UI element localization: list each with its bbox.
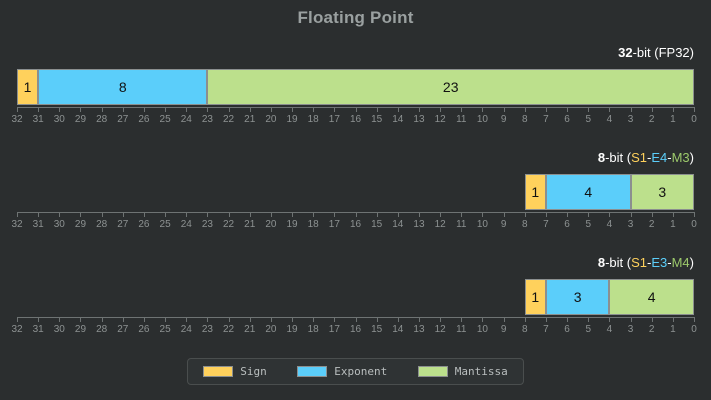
axis-tick-label: 2 [649, 324, 655, 335]
axis-tick-label: 1 [670, 219, 676, 230]
axis-tick-label: 6 [564, 114, 570, 125]
axis-tick-label: 15 [371, 324, 382, 335]
axis-tick-label: 24 [181, 219, 192, 230]
axis-tick [504, 212, 505, 217]
axis-tick-label: 24 [181, 324, 192, 335]
axis-tick [313, 107, 314, 112]
axis-tick-label: 12 [435, 114, 446, 125]
axis-tick [123, 317, 124, 322]
row-label: 8-bit (S1-E3-M4) [598, 255, 694, 270]
axis-tick [38, 317, 39, 322]
axis-tick-label: 30 [54, 114, 65, 125]
axis-tick-label: 31 [33, 114, 44, 125]
row-label-part-sign: S1 [631, 150, 647, 165]
axis-tick-label: 3 [628, 114, 634, 125]
axis-tick-label: 1 [670, 324, 676, 335]
axis-tick [482, 212, 483, 217]
axis-tick [59, 317, 60, 322]
axis-tick-label: 19 [286, 114, 297, 125]
axis-tick-label: 22 [223, 219, 234, 230]
axis-tick [525, 317, 526, 322]
segment-value: 4 [648, 289, 656, 305]
row-label-part-exponent: E4 [651, 150, 667, 165]
bitfield-segment-sign: 1 [525, 174, 546, 210]
axis-tick-label: 16 [350, 114, 361, 125]
axis-tick [165, 212, 166, 217]
axis-tick-label: 10 [477, 324, 488, 335]
bitfield-bar: 134 [17, 279, 694, 315]
axis-tick [377, 107, 378, 112]
axis-tick-label: 5 [585, 219, 591, 230]
axis-tick-label: 17 [329, 114, 340, 125]
axis-tick-label: 21 [244, 114, 255, 125]
row-label-part-exponent: E3 [651, 255, 667, 270]
axis-tick [504, 317, 505, 322]
axis-tick [356, 317, 357, 322]
axis-tick [334, 317, 335, 322]
axis-tick [694, 212, 695, 217]
axis-tick [229, 317, 230, 322]
axis-tick-label: 26 [138, 324, 149, 335]
axis-tick-label: 20 [265, 219, 276, 230]
row-label-close: ) [690, 150, 694, 165]
axis-tick-label: 8 [522, 219, 528, 230]
axis-tick-label: 7 [543, 324, 549, 335]
bit-axis: 3231302928272625242322212019181716151413… [17, 212, 694, 238]
axis-tick [334, 212, 335, 217]
axis-tick-label: 4 [607, 219, 613, 230]
axis-tick-label: 0 [691, 219, 697, 230]
axis-tick-label: 26 [138, 219, 149, 230]
axis-tick [17, 212, 18, 217]
axis-tick [165, 107, 166, 112]
axis-tick [102, 317, 103, 322]
axis-tick [102, 107, 103, 112]
axis-tick [186, 212, 187, 217]
row-label-close: ) [690, 255, 694, 270]
axis-tick-label: 10 [477, 114, 488, 125]
axis-tick [398, 107, 399, 112]
axis-tick [440, 107, 441, 112]
legend-swatch-mantissa [418, 366, 448, 377]
axis-tick-label: 14 [392, 114, 403, 125]
row-label-suffix: -bit ( [605, 150, 631, 165]
row-label-bits: 32 [618, 45, 632, 60]
axis-tick-label: 20 [265, 324, 276, 335]
axis-tick [207, 212, 208, 217]
axis-tick [546, 212, 547, 217]
axis-tick-label: 8 [522, 114, 528, 125]
axis-tick [398, 317, 399, 322]
axis-tick-label: 8 [522, 324, 528, 335]
axis-tick-label: 4 [607, 324, 613, 335]
legend-swatch-sign [203, 366, 233, 377]
legend-label: Sign [240, 365, 267, 378]
bitfield-segment-sign: 1 [17, 69, 38, 105]
segment-value: 3 [574, 289, 582, 305]
axis-tick-label: 15 [371, 219, 382, 230]
axis-tick-label: 22 [223, 324, 234, 335]
axis-tick-label: 17 [329, 324, 340, 335]
legend-item-mantissa: Mantissa [418, 365, 508, 378]
axis-tick [461, 317, 462, 322]
axis-tick-label: 16 [350, 324, 361, 335]
bit-axis: 3231302928272625242322212019181716151413… [17, 107, 694, 133]
legend: SignExponentMantissa [187, 358, 524, 385]
axis-tick [186, 317, 187, 322]
axis-tick [504, 107, 505, 112]
axis-tick [673, 317, 674, 322]
axis-tick [144, 317, 145, 322]
axis-tick-label: 12 [435, 324, 446, 335]
row-label-part-sign: S1 [631, 255, 647, 270]
axis-tick-label: 14 [392, 324, 403, 335]
axis-tick-label: 0 [691, 324, 697, 335]
axis-tick [250, 107, 251, 112]
axis-tick [440, 317, 441, 322]
axis-tick [165, 317, 166, 322]
axis-tick-label: 11 [456, 219, 466, 230]
bitfield-segment-mantissa: 3 [631, 174, 694, 210]
axis-tick [694, 317, 695, 322]
axis-tick-label: 29 [75, 219, 86, 230]
axis-tick [567, 212, 568, 217]
axis-tick-label: 29 [75, 324, 86, 335]
axis-tick-label: 29 [75, 114, 86, 125]
axis-tick [673, 107, 674, 112]
axis-tick [313, 212, 314, 217]
axis-tick [144, 107, 145, 112]
axis-tick [80, 212, 81, 217]
axis-tick [482, 107, 483, 112]
axis-tick [377, 317, 378, 322]
axis-tick [292, 107, 293, 112]
bitfield-segment-sign: 1 [525, 279, 546, 315]
axis-tick-label: 25 [160, 114, 171, 125]
row-label-bits: 8 [598, 150, 605, 165]
axis-tick-label: 23 [202, 114, 213, 125]
axis-tick [440, 212, 441, 217]
segment-value: 1 [531, 184, 539, 200]
axis-tick [419, 212, 420, 217]
axis-tick [38, 212, 39, 217]
axis-tick [419, 317, 420, 322]
axis-tick-label: 3 [628, 324, 634, 335]
axis-tick-label: 13 [413, 219, 424, 230]
bitfield-bar: 143 [17, 174, 694, 210]
axis-tick-label: 19 [286, 324, 297, 335]
axis-tick [80, 317, 81, 322]
axis-tick [292, 212, 293, 217]
axis-tick-label: 28 [96, 324, 107, 335]
axis-tick-label: 27 [117, 114, 128, 125]
axis-tick-label: 32 [11, 324, 22, 335]
page-title: Floating Point [0, 8, 711, 28]
axis-tick-label: 27 [117, 219, 128, 230]
axis-tick [652, 317, 653, 322]
axis-tick-label: 7 [543, 219, 549, 230]
axis-tick-label: 31 [33, 324, 44, 335]
axis-tick [229, 107, 230, 112]
axis-tick-label: 9 [501, 219, 507, 230]
axis-tick [271, 212, 272, 217]
axis-tick-label: 4 [607, 114, 613, 125]
axis-tick-label: 15 [371, 114, 382, 125]
axis-tick [59, 107, 60, 112]
row-label-part-mantissa: M4 [672, 255, 690, 270]
legend-swatch-exponent [297, 366, 327, 377]
axis-tick [652, 212, 653, 217]
axis-tick [292, 317, 293, 322]
axis-tick [525, 107, 526, 112]
axis-tick [694, 107, 695, 112]
axis-tick [80, 107, 81, 112]
axis-tick-label: 12 [435, 219, 446, 230]
axis-tick-label: 28 [96, 114, 107, 125]
row-label-part-mantissa: M3 [672, 150, 690, 165]
axis-tick-label: 11 [456, 324, 466, 335]
axis-tick [588, 212, 589, 217]
axis-tick [123, 212, 124, 217]
row-label-suffix: -bit ( [605, 255, 631, 270]
axis-tick [546, 107, 547, 112]
axis-tick-label: 5 [585, 114, 591, 125]
axis-tick-label: 6 [564, 324, 570, 335]
axis-tick-label: 21 [244, 324, 255, 335]
bitfield-segment-exponent: 3 [546, 279, 609, 315]
axis-tick [17, 107, 18, 112]
axis-tick-label: 0 [691, 114, 697, 125]
axis-tick [588, 317, 589, 322]
axis-tick-label: 30 [54, 219, 65, 230]
axis-tick-label: 2 [649, 114, 655, 125]
axis-tick-label: 18 [308, 324, 319, 335]
axis-tick [17, 317, 18, 322]
axis-tick [271, 317, 272, 322]
axis-tick [609, 107, 610, 112]
row-label: 8-bit (S1-E4-M3) [598, 150, 694, 165]
axis-tick [334, 107, 335, 112]
axis-tick [609, 212, 610, 217]
axis-tick [588, 107, 589, 112]
axis-tick-label: 28 [96, 219, 107, 230]
axis-tick [419, 107, 420, 112]
axis-tick [123, 107, 124, 112]
axis-tick [461, 212, 462, 217]
axis-tick-label: 21 [244, 219, 255, 230]
axis-tick [631, 107, 632, 112]
axis-tick [461, 107, 462, 112]
axis-tick [271, 107, 272, 112]
axis-tick [546, 317, 547, 322]
bitfield-segment-mantissa: 4 [609, 279, 694, 315]
axis-tick-label: 23 [202, 219, 213, 230]
axis-tick [313, 317, 314, 322]
legend-item-exponent: Exponent [297, 365, 387, 378]
axis-tick-label: 19 [286, 219, 297, 230]
segment-value: 23 [443, 79, 459, 95]
segment-value: 1 [531, 289, 539, 305]
axis-tick [356, 107, 357, 112]
axis-tick-label: 1 [670, 114, 676, 125]
axis-tick [377, 212, 378, 217]
axis-tick-label: 30 [54, 324, 65, 335]
axis-tick-label: 2 [649, 219, 655, 230]
axis-tick [652, 107, 653, 112]
axis-tick-label: 20 [265, 114, 276, 125]
axis-tick-label: 23 [202, 324, 213, 335]
bitfield-segment-exponent: 8 [38, 69, 207, 105]
axis-tick [250, 317, 251, 322]
axis-tick [207, 107, 208, 112]
axis-tick-label: 25 [160, 219, 171, 230]
segment-value: 3 [658, 184, 666, 200]
axis-tick-label: 18 [308, 219, 319, 230]
axis-tick [631, 317, 632, 322]
row-label: 32-bit (FP32) [618, 45, 694, 60]
axis-tick-label: 14 [392, 219, 403, 230]
segment-value: 4 [584, 184, 592, 200]
row-label-bits: 8 [598, 255, 605, 270]
axis-tick-label: 17 [329, 219, 340, 230]
axis-tick [482, 317, 483, 322]
axis-tick-label: 9 [501, 324, 507, 335]
axis-tick [567, 317, 568, 322]
axis-tick [38, 107, 39, 112]
axis-tick [609, 317, 610, 322]
axis-tick-label: 31 [33, 219, 44, 230]
segment-value: 1 [24, 79, 32, 95]
axis-tick-label: 13 [413, 114, 424, 125]
axis-tick [525, 212, 526, 217]
row-label-suffix: -bit (FP32) [633, 45, 694, 60]
axis-tick [59, 212, 60, 217]
axis-tick [186, 107, 187, 112]
bitfield-bar: 1823 [17, 69, 694, 105]
axis-tick [250, 212, 251, 217]
axis-tick-label: 27 [117, 324, 128, 335]
axis-tick-label: 9 [501, 114, 507, 125]
legend-label: Mantissa [455, 365, 508, 378]
axis-tick-label: 11 [456, 114, 466, 125]
axis-tick-label: 32 [11, 114, 22, 125]
axis-tick-label: 22 [223, 114, 234, 125]
axis-tick-label: 16 [350, 219, 361, 230]
axis-tick-label: 10 [477, 219, 488, 230]
legend-label: Exponent [334, 365, 387, 378]
axis-tick [229, 212, 230, 217]
bitfield-segment-mantissa: 23 [207, 69, 694, 105]
axis-tick [102, 212, 103, 217]
axis-tick-label: 24 [181, 114, 192, 125]
axis-tick-label: 26 [138, 114, 149, 125]
axis-tick [207, 317, 208, 322]
legend-item-sign: Sign [203, 365, 267, 378]
axis-tick-label: 6 [564, 219, 570, 230]
axis-tick [631, 212, 632, 217]
axis-tick [673, 212, 674, 217]
axis-tick-label: 3 [628, 219, 634, 230]
axis-tick [144, 212, 145, 217]
axis-tick-label: 5 [585, 324, 591, 335]
axis-tick [398, 212, 399, 217]
bitfield-segment-exponent: 4 [546, 174, 631, 210]
axis-tick [567, 107, 568, 112]
axis-tick-label: 18 [308, 114, 319, 125]
axis-tick-label: 7 [543, 114, 549, 125]
bit-axis: 3231302928272625242322212019181716151413… [17, 317, 694, 343]
axis-tick-label: 32 [11, 219, 22, 230]
axis-tick-label: 25 [160, 324, 171, 335]
segment-value: 8 [119, 79, 127, 95]
axis-tick-label: 13 [413, 324, 424, 335]
axis-tick [356, 212, 357, 217]
